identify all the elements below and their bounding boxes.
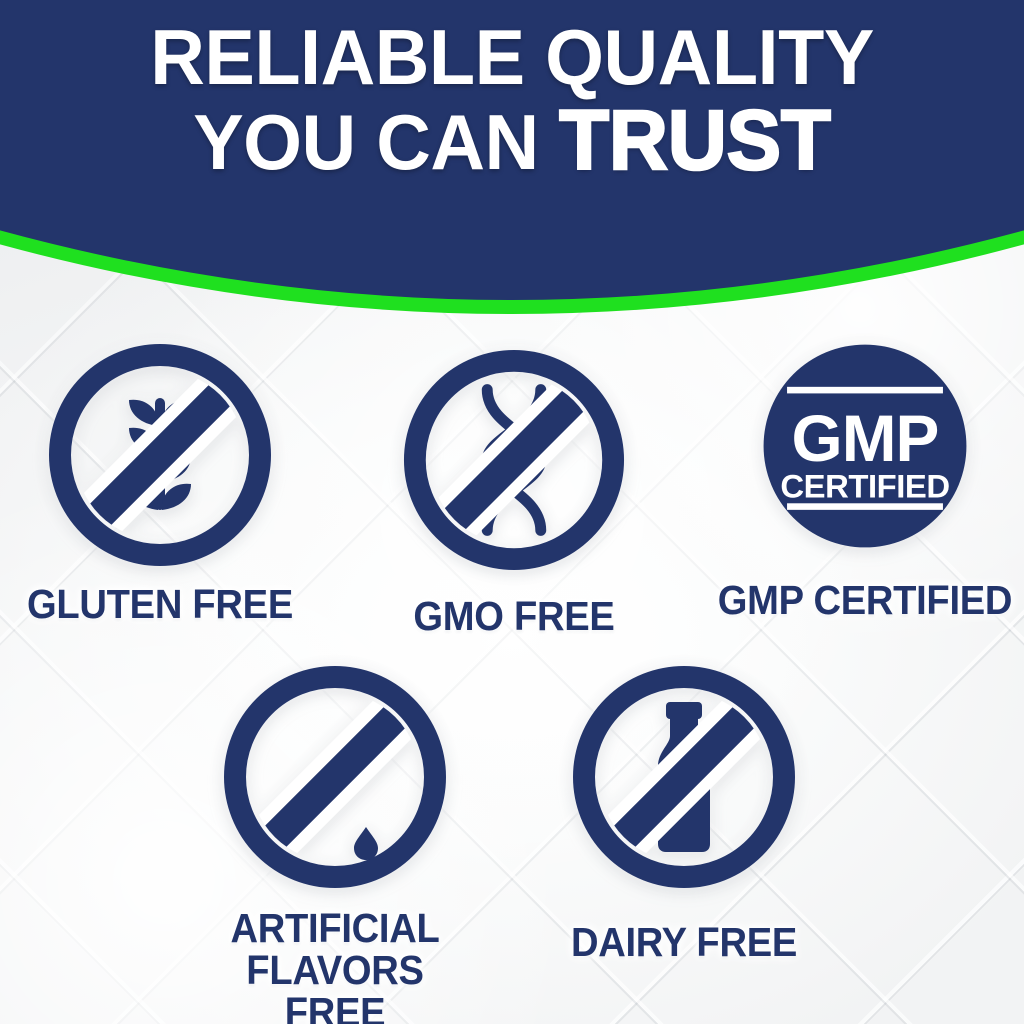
no-milk-bottle-icon [569,662,799,892]
badge-label-artificial-flavors-free: ARTIFICIAL FLAVORS FREE [200,908,470,1024]
promo-graphic: RELIABLE QUALITY YOU CAN TRUST [0,0,1024,1024]
headline-line-2-prefix: YOU CAN [193,98,559,186]
headline-line-1: RELIABLE QUALITY [15,20,1008,96]
badge-artificial-flavors-free: ARTIFICIAL FLAVORS FREE [190,662,480,1024]
page-title: RELIABLE QUALITY YOU CAN TRUST [0,20,1024,181]
no-dropper-icon [220,662,450,892]
no-dna-helix-icon [400,346,628,574]
badge-gmp-certified: GMP CERTIFIED GMP CERTIFIED [700,338,1024,622]
badge-gmo-free: GMO FREE [384,346,644,638]
badge-gluten-free: GLUTEN FREE [15,340,305,626]
badge-label-dairy-free: DAIRY FREE [558,922,811,964]
badge-label-gluten-free: GLUTEN FREE [25,584,295,626]
seal-text-gmp: GMP [792,401,939,475]
badge-dairy-free: DAIRY FREE [548,662,820,964]
badge-label-gmp-certified: GMP CERTIFIED [712,580,1019,622]
gmp-certified-seal-icon: GMP CERTIFIED [757,338,973,554]
seal-text-certified: CERTIFIED [780,468,949,505]
headline-line-2: YOU CAN TRUST [15,100,1008,181]
no-wheat-icon [45,340,275,570]
headline-emphasis-trust: TRUST [559,93,831,187]
badge-label-gmo-free: GMO FREE [393,596,635,638]
